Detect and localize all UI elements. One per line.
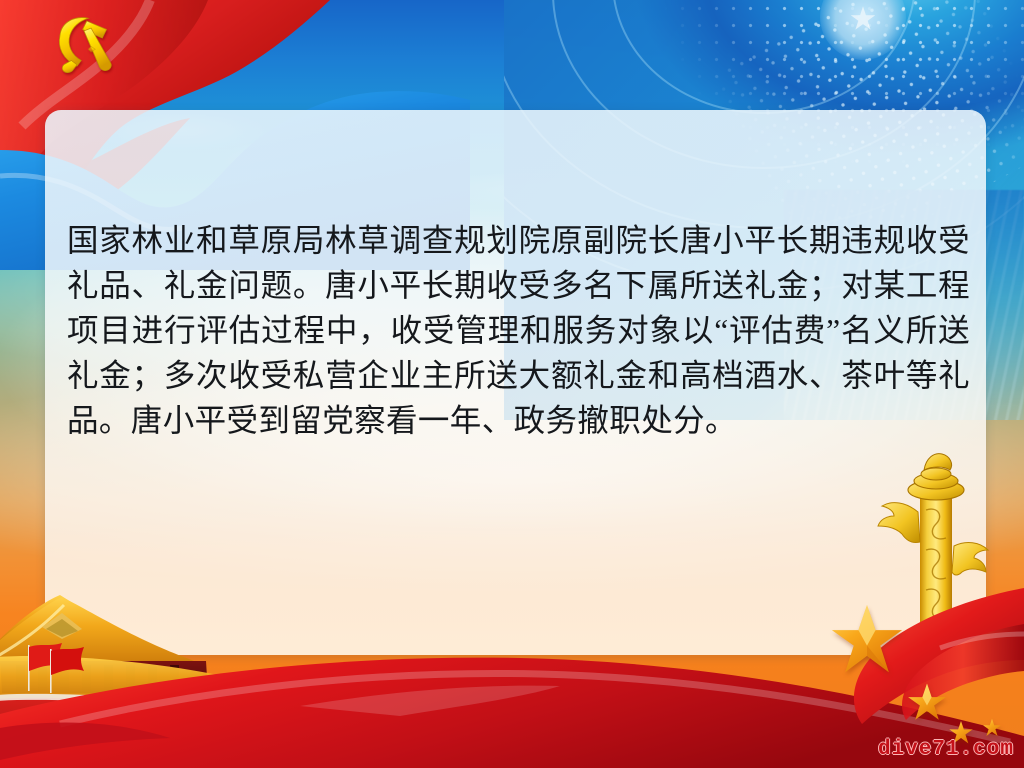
gold-star-icon (982, 718, 1002, 738)
case-description-text: 国家林业和草原局林草调查规划院原副院长唐小平长期违规收受礼品、礼金问题。唐小平长… (67, 218, 970, 443)
gold-star-icon (828, 602, 906, 680)
content-card-body: 国家林业和草原局林草调查规划院原副院长唐小平长期违规收受礼品、礼金问题。唐小平长… (67, 218, 970, 443)
slide-canvas: 国家林业和草原局林草调查规划院原副院长唐小平长期违规收受礼品、礼金问题。唐小平长… (0, 0, 1024, 768)
site-watermark: dive71.com (878, 738, 1014, 761)
gold-star-icon (906, 682, 948, 724)
